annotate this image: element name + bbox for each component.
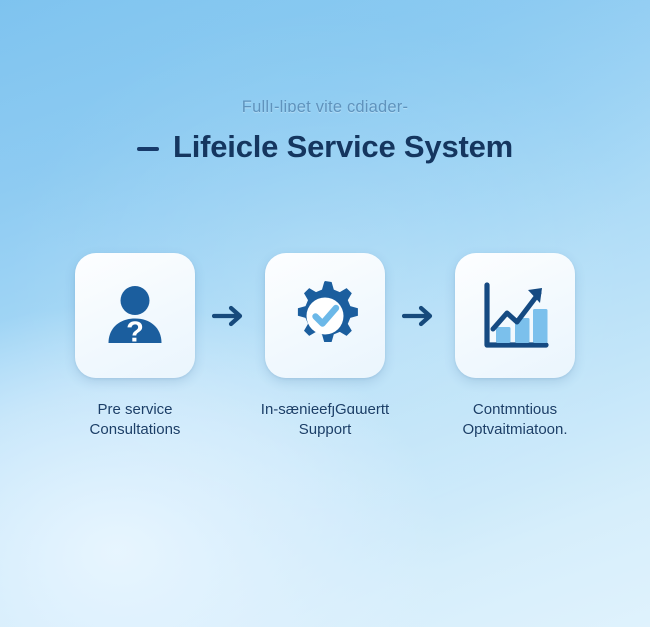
step-card-2[interactable] [265,253,385,378]
steps-row: ? Pre service Consultations [0,253,650,440]
user-question-icon: ? [98,279,172,353]
arrow-right-icon-2 [385,253,455,378]
step-label-1: Pre service Consultations [55,400,215,440]
title-row: Lifeicle Service System [0,129,650,165]
arrow-right-icon-1 [195,253,265,378]
step-in-service-support[interactable]: In-sænieefȷGɑɯertt Support [265,253,385,440]
page-title: Lifeicle Service System [173,129,513,165]
subtitle: Fullı-liɒet vite cdiader- [0,98,650,117]
infographic-canvas: Fullı-liɒet vite cdiader- Lifeicle Servi… [0,0,650,627]
svg-text:?: ? [126,316,144,348]
step-label-1-line1: Pre service [97,401,172,418]
growth-bar-chart-icon [476,277,554,355]
step-label-2-line1: In-sænieefȷGɑɯertt [261,401,389,418]
step-label-2: In-sænieefȷGɑɯertt Support [245,400,405,440]
header: Fullı-liɒet vite cdiader- Lifeicle Servi… [0,98,650,165]
step-label-1-line2: Consultations [55,420,215,440]
step-continuous-optimization[interactable]: Contmntious Optvaitmiatoon. [455,253,575,440]
step-label-2-line2: Support [245,420,405,440]
step-label-3: Contmntious Optvaitmiatoon. [435,400,595,440]
em-dash-mark-icon [137,147,159,151]
gear-check-icon [287,278,363,354]
step-label-3-line1: Contmntious [473,401,557,418]
step-card-1[interactable]: ? [75,253,195,378]
step-label-3-line2: Optvaitmiatoon. [435,420,595,440]
step-card-3[interactable] [455,253,575,378]
step-pre-service-consultations[interactable]: ? Pre service Consultations [75,253,195,440]
